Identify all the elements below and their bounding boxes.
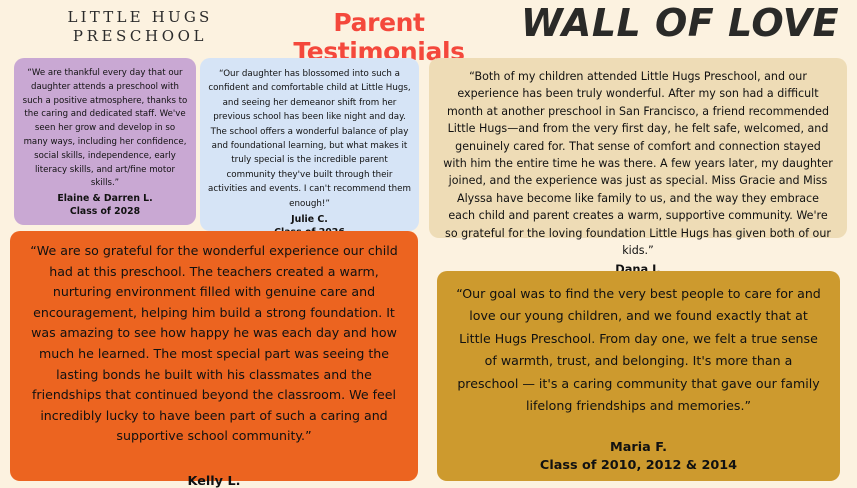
testimonial-card-blue: “Our daughter has blossomed into such a … [200, 58, 419, 231]
brand-logo: LITTLE HUGS PRESCHOOL [40, 8, 240, 46]
testimonial-class: Class of 2010, 2012 & 2014 [453, 457, 824, 475]
testimonial-quote: “Our goal was to find the very best peop… [453, 283, 824, 417]
page-header: LITTLE HUGS PRESCHOOL Parent Testimonial… [0, 0, 857, 50]
testimonial-author: Elaine & Darren L. [22, 192, 188, 205]
testimonial-quote: “We are thankful every day that our daug… [22, 67, 188, 191]
testimonial-author: Maria F. [453, 439, 824, 457]
brand-line-2: PRESCHOOL [40, 27, 240, 46]
testimonial-class: Class of 2028 [22, 205, 188, 218]
testimonial-card-orange: “We are so grateful for the wonderful ex… [10, 231, 418, 481]
testimonial-quote: “Our daughter has blossomed into such a … [207, 67, 412, 211]
testimonial-quote: “We are so grateful for the wonderful ex… [24, 241, 404, 447]
testimonial-card-purple: “We are thankful every day that our daug… [14, 58, 196, 225]
testimonial-quote: “Both of my children attended Little Hug… [443, 68, 833, 259]
testimonial-author: Kelly L. [24, 473, 404, 488]
testimonial-author: Julie C. [207, 213, 412, 226]
brand-line-1: LITTLE HUGS [40, 8, 240, 27]
testimonial-card-tan: “Both of my children attended Little Hug… [429, 58, 847, 238]
testimonial-card-gold: “Our goal was to find the very best peop… [437, 271, 840, 481]
page-title-wall-of-love: WALL OF LOVE [510, 0, 850, 46]
